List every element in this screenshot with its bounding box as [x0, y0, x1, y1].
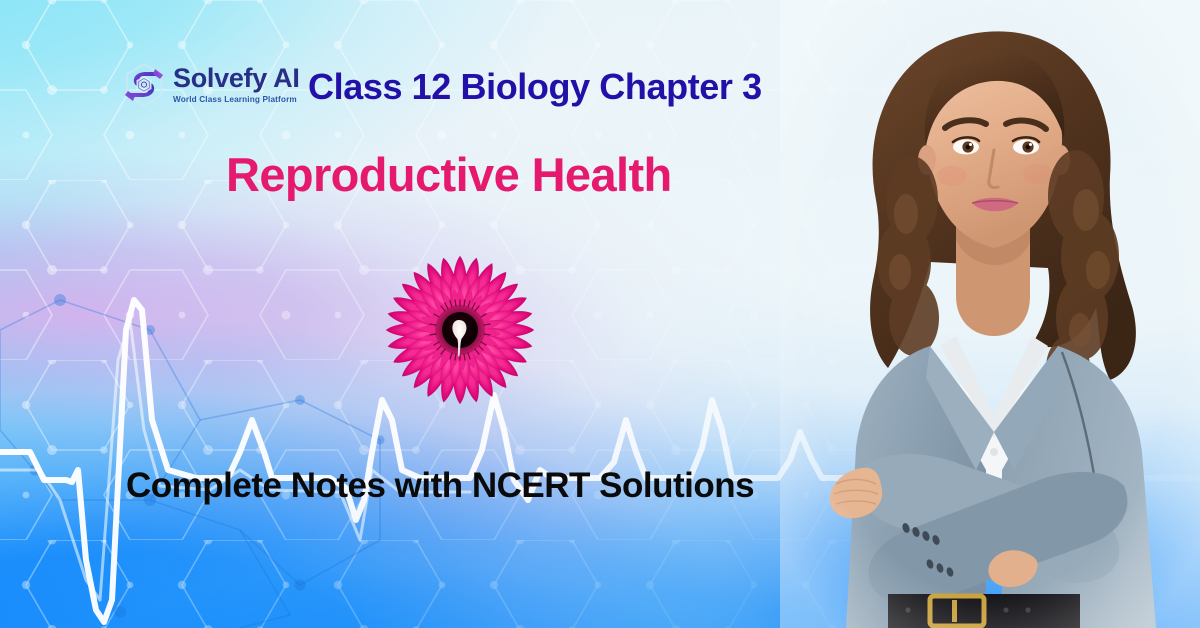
brand-name: Solvefy AI	[173, 65, 300, 92]
chapter-heading: Class 12 Biology Chapter 3	[308, 66, 762, 108]
brand-logo[interactable]: Solvefy AI World Class Learning Platform	[122, 62, 300, 108]
promo-banner: Solvefy AI World Class Learning Platform…	[0, 0, 1200, 628]
hexagon-s-logo-icon	[122, 62, 166, 108]
page-title: Reproductive Health	[226, 147, 672, 202]
smiling-woman-portrait	[780, 0, 1200, 628]
subtitle-heading: Complete Notes with NCERT Solutions	[126, 466, 754, 506]
brand-tagline: World Class Learning Platform	[173, 96, 300, 104]
pink-gerbera-flower-image	[372, 238, 548, 424]
